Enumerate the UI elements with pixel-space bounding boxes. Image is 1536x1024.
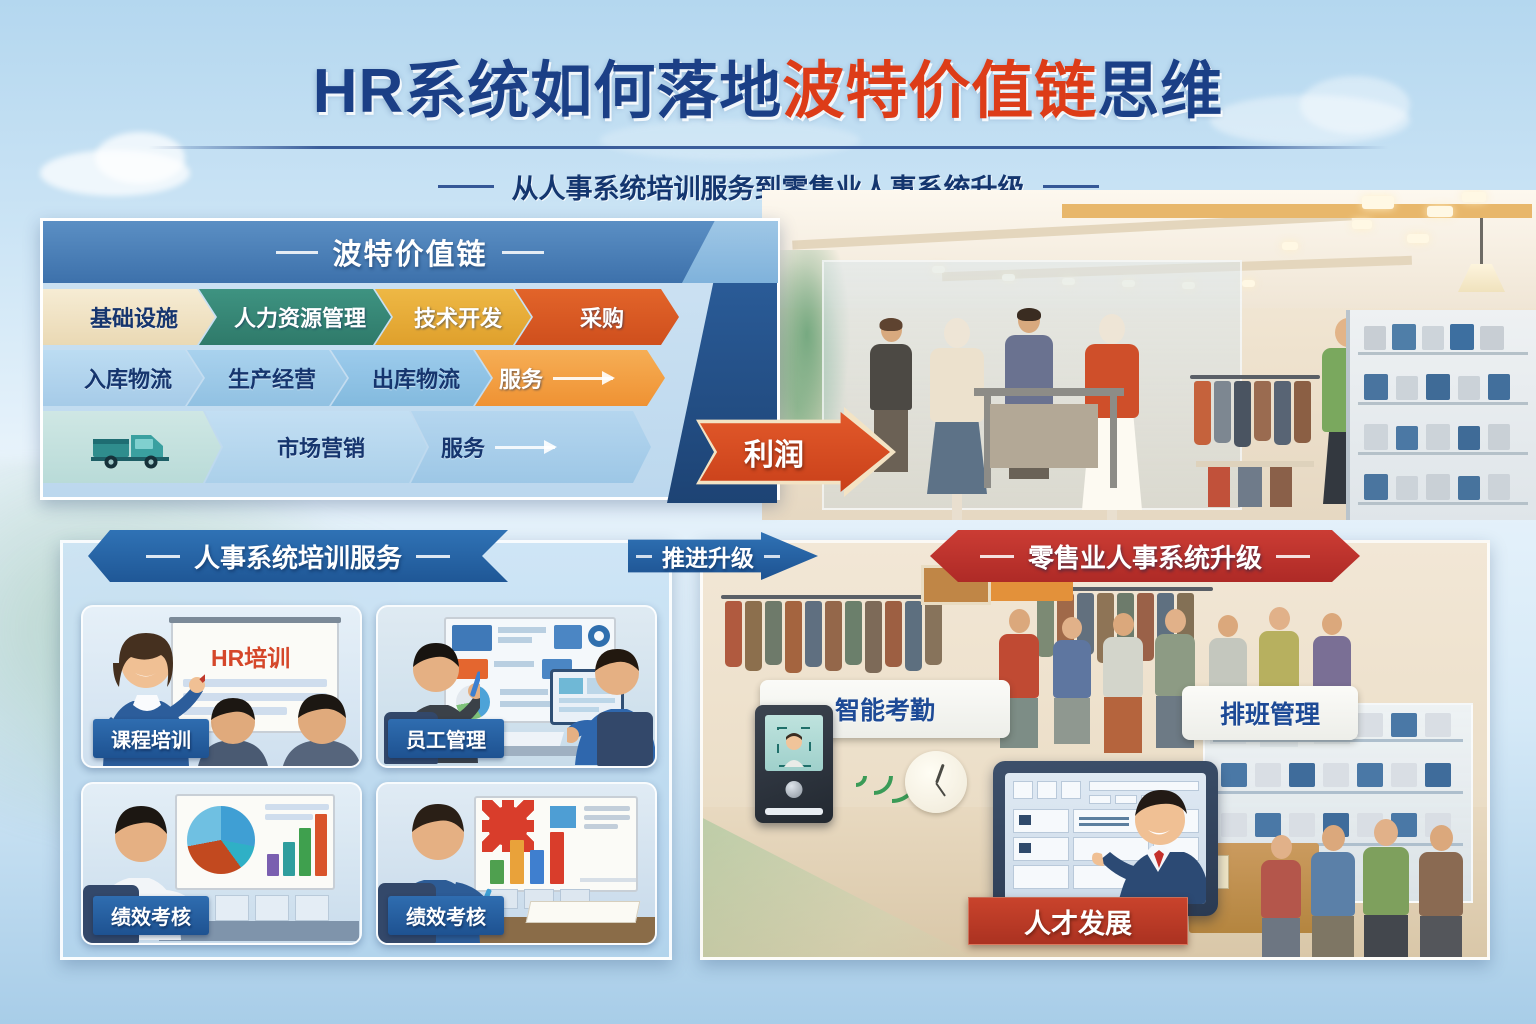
bar bbox=[267, 854, 279, 876]
face-scan-icon bbox=[777, 727, 811, 767]
banner-dash-right bbox=[1276, 555, 1310, 558]
card-performance-review-1[interactable]: 绩效考核 bbox=[81, 782, 362, 945]
vc-segment-label: 服务 bbox=[431, 431, 485, 463]
shopper bbox=[1053, 617, 1091, 744]
subtitle-dash-right bbox=[1043, 185, 1099, 188]
kiosk-led-bar bbox=[765, 808, 823, 815]
card-label: 绩效考核 bbox=[388, 896, 504, 935]
shelf-unit bbox=[1346, 310, 1536, 520]
vc-segment[interactable]: 入库物流 bbox=[43, 350, 203, 406]
arrow-dash-right bbox=[764, 555, 780, 558]
clothing-rack bbox=[1190, 375, 1320, 495]
presenter-illustration bbox=[1090, 774, 1206, 904]
bar bbox=[550, 832, 564, 884]
banner-label: 零售业人事系统升级 bbox=[1028, 538, 1262, 575]
vc-segment-label: 技术开发 bbox=[404, 301, 502, 333]
vc-segment-label: 出库物流 bbox=[362, 362, 460, 394]
value-chain-row-primary-2: 市场营销 服务 bbox=[43, 411, 777, 483]
card-employee-management[interactable]: 员工管理 bbox=[376, 605, 657, 768]
hr-training-panel: HR培训 bbox=[60, 540, 672, 960]
shopper bbox=[1419, 825, 1463, 960]
display-box bbox=[990, 404, 1098, 468]
face-terminal-icon[interactable] bbox=[755, 705, 833, 823]
arrow-dash-left bbox=[636, 555, 652, 558]
vc-segment[interactable]: 市场营销 bbox=[205, 411, 427, 483]
bar bbox=[530, 850, 544, 884]
vc-segment-label: 人力资源管理 bbox=[224, 301, 366, 333]
vc-segment[interactable]: 人力资源管理 bbox=[199, 289, 391, 345]
open-book bbox=[526, 901, 641, 923]
ceiling-light bbox=[1242, 280, 1255, 287]
talent-development-banner[interactable]: 人才发展 bbox=[968, 897, 1188, 945]
shopper bbox=[1311, 825, 1355, 960]
banner-dash-left bbox=[980, 555, 1014, 558]
talent-tablet[interactable] bbox=[993, 761, 1218, 916]
mannequin bbox=[927, 318, 987, 520]
bar bbox=[510, 840, 524, 884]
chip-label: 智能考勤 bbox=[835, 691, 935, 727]
hr-training-banner[interactable]: 人事系统培训服务 bbox=[88, 530, 508, 582]
value-chain-row-primary-1: 入库物流 生产经营 出库物流 服务 bbox=[43, 350, 777, 406]
training-card-grid: HR培训 bbox=[81, 605, 657, 945]
retail-upgrade-banner[interactable]: 零售业人事系统升级 bbox=[930, 530, 1360, 582]
bar bbox=[315, 814, 327, 876]
value-chain-title: 波特价值链 bbox=[332, 231, 487, 273]
header-skew-accent bbox=[682, 221, 778, 283]
title-part2: 思维 bbox=[1097, 57, 1223, 126]
chip-shift-management[interactable]: 排班管理 bbox=[1182, 686, 1358, 740]
chip-label: 排班管理 bbox=[1220, 695, 1320, 731]
flow-arrow-icon bbox=[495, 446, 555, 449]
ceiling-light bbox=[1407, 234, 1429, 243]
table-leg bbox=[1110, 396, 1117, 488]
value-chain-header: 波特价值链 bbox=[43, 221, 777, 283]
vc-segment-label: 基础设施 bbox=[80, 301, 178, 333]
flow-arrow-icon bbox=[553, 377, 613, 380]
header-dash-left bbox=[276, 251, 318, 254]
display-table bbox=[974, 388, 1124, 396]
banner-label: 人事系统培训服务 bbox=[194, 538, 402, 575]
vc-segment[interactable]: 出库物流 bbox=[331, 350, 491, 406]
ceiling-light bbox=[1362, 196, 1394, 209]
shopper bbox=[1363, 819, 1409, 960]
vc-segment[interactable] bbox=[43, 411, 221, 483]
kiosk-button[interactable] bbox=[786, 781, 803, 798]
title-accent: 波特价值链 bbox=[782, 57, 1097, 126]
header-dash-right bbox=[502, 251, 544, 254]
attendee-illustration bbox=[279, 692, 362, 768]
ceiling-light bbox=[1282, 242, 1298, 250]
card-label: 绩效考核 bbox=[93, 896, 209, 935]
bar bbox=[299, 828, 311, 876]
pendant-lamp bbox=[1480, 218, 1483, 266]
vc-segment-label: 服务 bbox=[489, 362, 543, 394]
truck-icon bbox=[89, 425, 175, 469]
vc-segment[interactable]: 技术开发 bbox=[375, 289, 531, 345]
banner-dash-right bbox=[416, 555, 450, 558]
office-chair bbox=[597, 712, 653, 766]
talent-banner-label: 人才发展 bbox=[1024, 902, 1132, 941]
vc-segment[interactable]: 生产经营 bbox=[187, 350, 347, 406]
kiosk-screen bbox=[765, 715, 823, 771]
shopper bbox=[1103, 613, 1143, 753]
retail-store-illustration bbox=[762, 190, 1536, 520]
title-block: HR系统如何落地波特价值链思维 从人事系统培训服务到零售业人事系统升级 bbox=[0, 40, 1536, 206]
vc-segment-label: 市场营销 bbox=[267, 431, 365, 463]
shopper bbox=[1261, 835, 1301, 960]
bar bbox=[283, 842, 295, 876]
page-title: HR系统如何落地波特价值链思维 bbox=[0, 40, 1536, 130]
card-label: 员工管理 bbox=[388, 719, 504, 758]
banner-dash-left bbox=[146, 555, 180, 558]
profit-label: 利润 bbox=[744, 430, 804, 474]
title-divider bbox=[148, 146, 1388, 149]
vc-segment[interactable]: 采购 bbox=[515, 289, 679, 345]
card-course-training[interactable]: HR培训 bbox=[81, 605, 362, 768]
board-text: HR培训 bbox=[211, 639, 290, 673]
vc-segment-label: 生产经营 bbox=[218, 362, 316, 394]
ceiling-light bbox=[1427, 206, 1453, 217]
transition-label: 推进升级 bbox=[662, 539, 754, 573]
ceiling-light bbox=[1352, 220, 1372, 229]
ceiling-light bbox=[1462, 192, 1486, 202]
title-part1: HR系统如何落地 bbox=[313, 57, 783, 126]
tablet-screen bbox=[1005, 773, 1206, 904]
porter-value-chain-panel: 波特价值链 基础设施 人力资源管理 技术开发 采购 入库物流 bbox=[40, 218, 780, 500]
clock-icon bbox=[905, 751, 967, 813]
vc-segment-label: 采购 bbox=[570, 301, 624, 333]
card-performance-review-2[interactable]: 绩效考核 bbox=[376, 782, 657, 945]
vc-segment[interactable]: 服务 bbox=[411, 411, 651, 483]
card-label: 课程培训 bbox=[93, 719, 209, 758]
vc-segment-label: 入库物流 bbox=[74, 362, 172, 394]
vc-segment[interactable]: 基础设施 bbox=[43, 289, 215, 345]
vc-segment[interactable]: 服务 bbox=[475, 350, 665, 406]
subtitle-dash-left bbox=[438, 185, 494, 188]
value-chain-row-support: 基础设施 人力资源管理 技术开发 采购 bbox=[43, 289, 777, 345]
value-chain-rows: 基础设施 人力资源管理 技术开发 采购 入库物流 生产经营 出库物流 bbox=[43, 283, 777, 483]
ceiling-beam-warm bbox=[1062, 204, 1532, 218]
